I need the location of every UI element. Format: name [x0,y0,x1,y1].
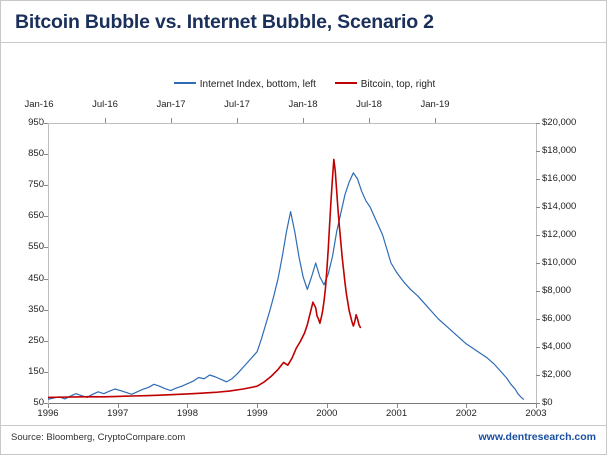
source-note: Source: Bloomberg, CryptoCompare.com [11,432,185,443]
x-top-tick [171,118,172,123]
x-bottom-tick-label: 2001 [373,408,421,419]
x-bottom-tick [327,404,328,408]
x-top-tick [237,118,238,123]
y-right-tick [536,179,540,180]
y-right-tick-label: $8,000 [542,285,590,296]
y-right-tick [536,207,540,208]
y-right-tick [536,235,540,236]
x-bottom-tick [187,404,188,408]
x-bottom-tick [118,404,119,408]
x-bottom-tick-label: 2002 [442,408,490,419]
x-bottom-tick [257,404,258,408]
legend-swatch-bitcoin [335,82,357,84]
x-bottom-tick-label: 2003 [512,408,560,419]
y-left-tick [44,279,48,280]
x-top-tick-label: Jan-16 [15,99,63,110]
y-right-tick [536,263,540,264]
y-left-tick [44,372,48,373]
x-bottom-tick [466,404,467,408]
x-bottom-tick [397,404,398,408]
chart-svg [48,123,536,404]
x-top-tick [369,118,370,123]
y-left-tick-label: 750 [4,179,44,190]
chart-legend: Internet Index, bottom, left Bitcoin, to… [1,79,607,90]
x-top-tick [435,118,436,123]
y-left-tick-label: 250 [4,335,44,346]
x-top-tick-label: Jan-19 [411,99,459,110]
y-right-tick-label: $4,000 [542,341,590,352]
y-left-tick [44,185,48,186]
y-left-tick [44,154,48,155]
y-left-tick-label: 350 [4,304,44,315]
y-left-tick [44,247,48,248]
x-bottom-tick-label: 1997 [94,408,142,419]
y-right-tick-label: $10,000 [542,257,590,268]
y-right-tick [536,375,540,376]
y-left-tick [44,310,48,311]
legend-entry-bitcoin: Bitcoin, top, right [335,79,435,90]
x-bottom-tick-label: 1996 [24,408,72,419]
y-left-tick-label: 950 [4,117,44,128]
legend-label-internet: Internet Index, bottom, left [200,79,316,90]
y-right-tick-label: $18,000 [542,145,590,156]
y-left-tick [44,123,48,124]
x-top-tick-label: Jul-16 [81,99,129,110]
y-right-tick [536,123,540,124]
y-right-tick [536,347,540,348]
series-line-bitcoin [48,159,360,397]
x-bottom-tick-label: 1998 [163,408,211,419]
y-left-tick-label: 550 [4,241,44,252]
x-bottom-tick [48,404,49,408]
y-right-tick-label: $2,000 [542,369,590,380]
y-right-tick [536,151,540,152]
footer-divider [1,425,606,426]
page-title: Bitcoin Bubble vs. Internet Bubble, Scen… [15,11,434,34]
x-top-tick-label: Jan-18 [279,99,327,110]
y-left-tick-label: 650 [4,210,44,221]
x-bottom-tick-label: 1999 [233,408,281,419]
y-left-tick [44,216,48,217]
y-right-tick-label: $6,000 [542,313,590,324]
y-right-tick [536,291,540,292]
y-right-tick-label: $16,000 [542,173,590,184]
y-left-tick-label: 450 [4,273,44,284]
y-left-tick-label: 50 [4,397,44,408]
y-right-tick-label: $12,000 [542,229,590,240]
y-right-tick [536,319,540,320]
plot-area [48,123,536,403]
y-right-tick-label: $0 [542,397,590,408]
x-top-tick [39,118,40,123]
x-top-tick-label: Jul-17 [213,99,261,110]
series-line-internet [48,173,523,399]
legend-entry-internet: Internet Index, bottom, left [174,79,316,90]
x-top-tick-label: Jan-17 [147,99,195,110]
y-right-tick-label: $20,000 [542,117,590,128]
legend-label-bitcoin: Bitcoin, top, right [361,79,435,90]
y-left-tick [44,341,48,342]
title-divider [1,42,606,43]
y-left-tick-label: 850 [4,148,44,159]
site-link[interactable]: www.dentresearch.com [479,431,596,443]
y-left-tick-label: 150 [4,366,44,377]
chart-page: Bitcoin Bubble vs. Internet Bubble, Scen… [0,0,607,455]
x-bottom-tick [536,404,537,408]
x-top-tick [105,118,106,123]
legend-swatch-internet [174,82,196,84]
y-right-tick-label: $14,000 [542,201,590,212]
x-top-tick [303,118,304,123]
x-top-tick-label: Jul-18 [345,99,393,110]
x-bottom-tick-label: 2000 [303,408,351,419]
